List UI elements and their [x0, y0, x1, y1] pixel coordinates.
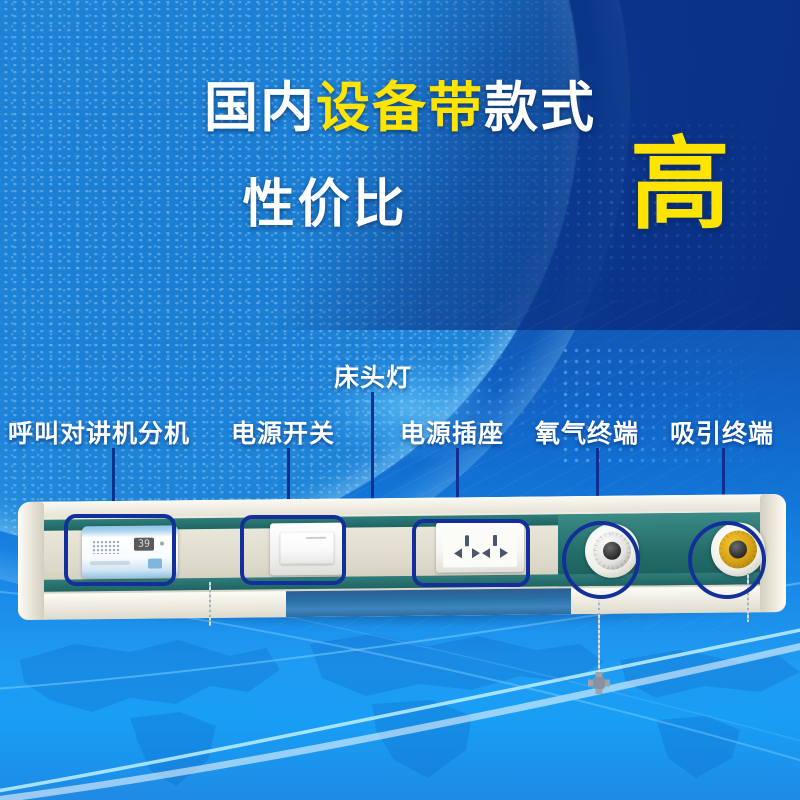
highlight-circle-oxygen-terminal — [562, 521, 640, 599]
callout-label-suction-terminal: 吸引终端 — [670, 414, 774, 450]
highlight-box-power-socket — [412, 519, 530, 587]
callout-label-oxygen-terminal: 氧气终端 — [535, 414, 639, 450]
pull-cord-center[interactable] — [598, 600, 600, 676]
headline-block: 国内设备带款式 性价比 高 — [0, 78, 800, 248]
callout-label-power-switch: 电源开关 — [231, 414, 335, 450]
panel-blue-band — [286, 588, 571, 617]
headline-part-1: 国内 — [204, 76, 316, 139]
product-poster: 国内设备带款式 性价比 高 呼叫对讲机分机 电源开关 床头灯 电源插座 氧气终端… — [0, 0, 800, 800]
pull-cord-pendant[interactable] — [588, 672, 610, 694]
highlight-circle-suction-terminal — [688, 521, 766, 599]
panel-end-cap-left — [18, 502, 44, 620]
highlight-box-nurse-call-intercom — [64, 514, 176, 586]
headline-emphasis-character: 高 — [630, 130, 730, 240]
headline-highlight: 设备带 — [316, 76, 484, 139]
callout-label-power-socket: 电源插座 — [400, 414, 504, 450]
callout-label-bed-lamp: 床头灯 — [334, 358, 412, 394]
highlight-box-power-switch — [240, 515, 346, 585]
headline-part-2: 款式 — [484, 76, 596, 139]
callout-label-nurse-call-intercom: 呼叫对讲机分机 — [8, 414, 190, 450]
pull-cord-left[interactable] — [209, 582, 211, 626]
